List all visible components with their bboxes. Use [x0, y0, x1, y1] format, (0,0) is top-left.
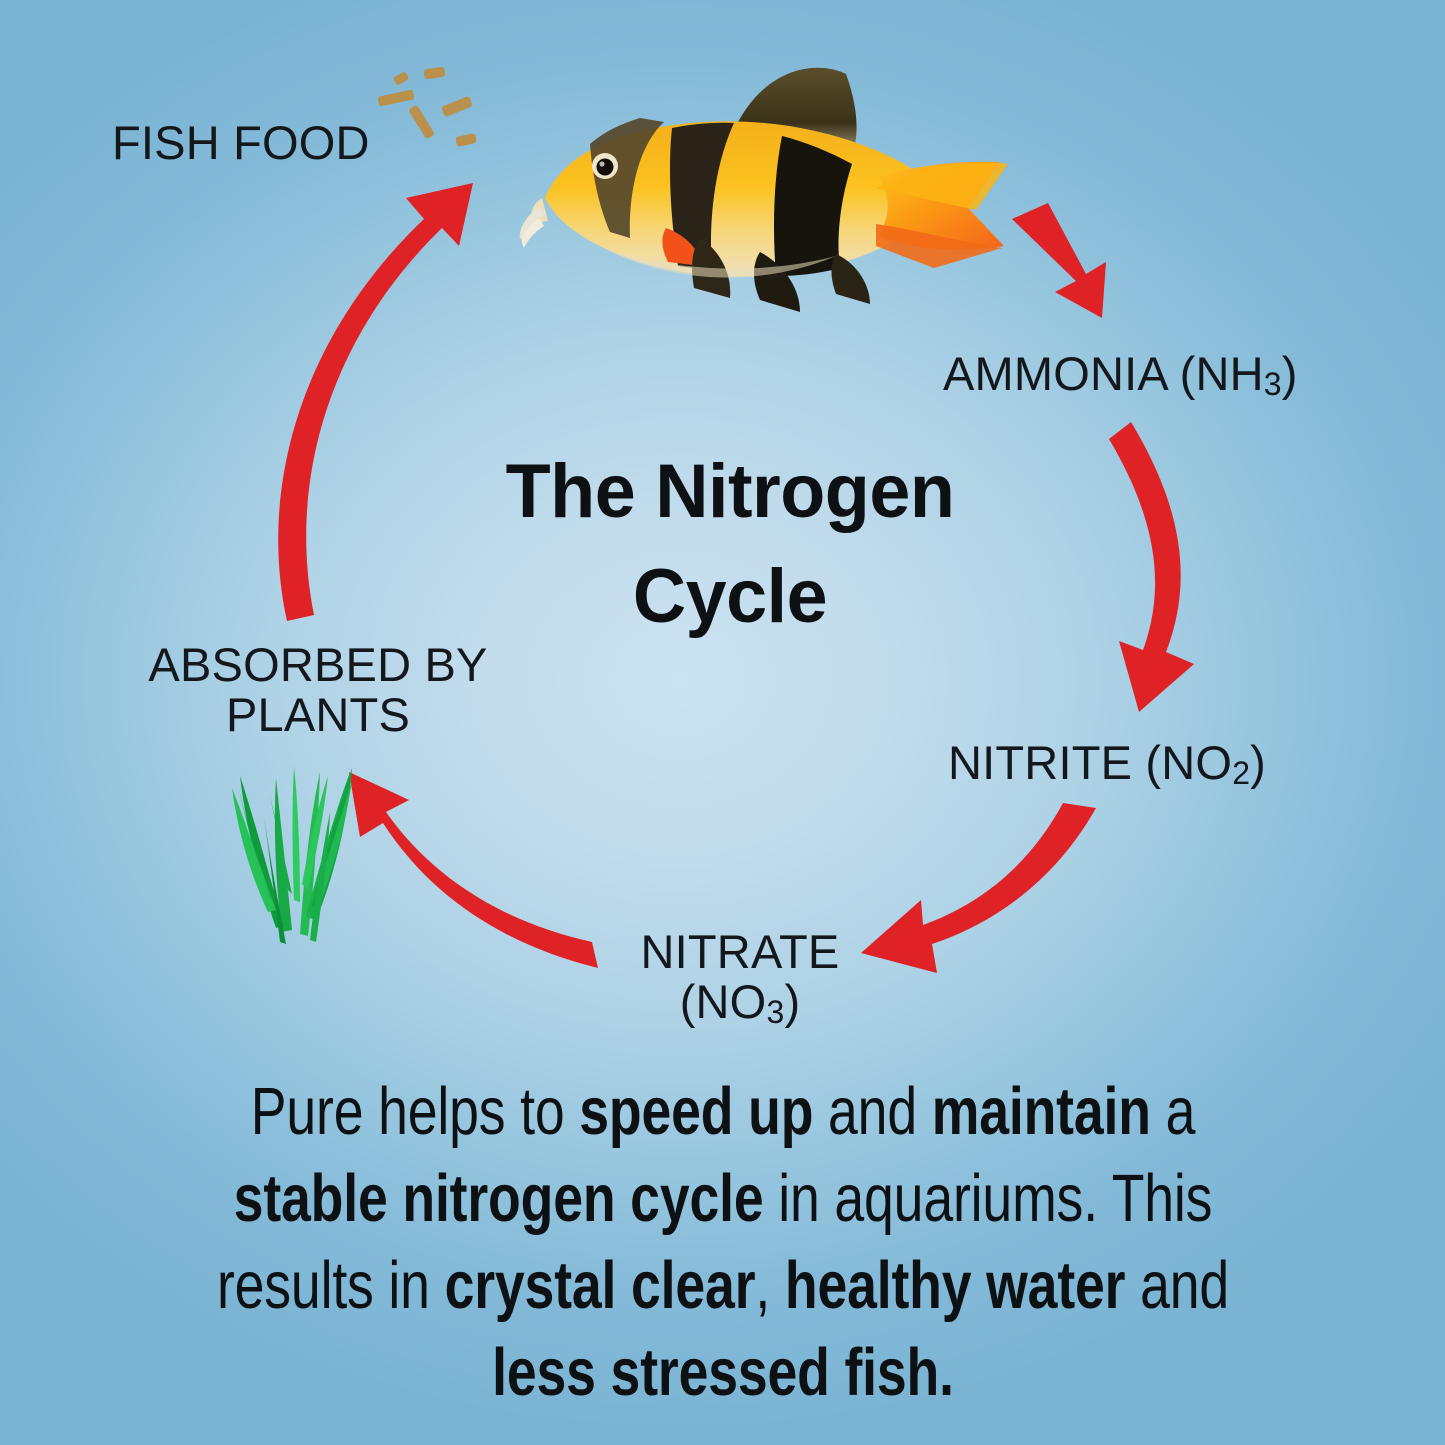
title-line2: Cycle: [429, 545, 1030, 650]
title-line1: The Nitrogen: [506, 449, 955, 534]
label-ammonia-text: AMMONIA (NH: [943, 347, 1264, 400]
label-ammonia-subscript: 3: [1264, 366, 1282, 402]
label-ammonia-tail: ): [1282, 347, 1298, 400]
caption-seg: results in: [217, 1248, 445, 1323]
arrow-nitrite-to-nitrate: [861, 803, 1096, 973]
label-nitrate: NITRATE(NO3): [610, 927, 870, 1027]
label-nitrate-line2: (NO3): [610, 977, 870, 1027]
label-nitrite-text: NITRITE (NO: [948, 736, 1232, 789]
caption-seg: Pure helps to: [251, 1074, 580, 1149]
label-fish-food: FISH FOOD: [112, 118, 370, 168]
caption-seg: ,: [755, 1248, 784, 1323]
label-plants-line2: PLANTS: [133, 690, 503, 740]
arrow-ammonia-to-nitrite: [1109, 422, 1194, 712]
infographic-canvas: FISH FOOD AMMONIA (NH3) NITRITE (NO2) NI…: [0, 0, 1445, 1445]
label-nitrate-line1: NITRATE: [641, 925, 840, 978]
caption-seg-bold: speed up: [579, 1074, 813, 1149]
caption-seg-bold: healthy water: [785, 1248, 1125, 1323]
label-nitrite: NITRITE (NO2): [948, 738, 1266, 788]
label-nitrate-tail: ): [784, 975, 800, 1028]
label-nitrite-tail: ): [1250, 736, 1266, 789]
label-absorbed-by-plants: ABSORBED BYPLANTS: [133, 640, 503, 740]
page-title: The NitrogenCycle: [429, 440, 1030, 650]
plant-illustration: [232, 766, 352, 944]
arrow-fish-to-ammonia: [1012, 203, 1106, 318]
arrow-nitrate-to-plants: [349, 772, 598, 968]
caption-paragraph: Pure helps to speed up and maintain a st…: [191, 1068, 1255, 1416]
label-nitrate-subscript: 3: [766, 994, 784, 1030]
caption-seg: a: [1151, 1074, 1195, 1149]
caption-seg: in aquariums. This: [764, 1161, 1213, 1236]
caption-seg: and: [813, 1074, 931, 1149]
label-ammonia: AMMONIA (NH3): [943, 349, 1298, 399]
caption-seg-bold: maintain: [932, 1074, 1151, 1149]
fish-illustration: [520, 68, 1008, 312]
caption-seg: and: [1125, 1248, 1229, 1323]
label-nitrite-subscript: 2: [1232, 755, 1250, 791]
label-nitrate-formula: (NO: [680, 975, 767, 1028]
caption-seg-bold: less stressed fish.: [492, 1335, 954, 1410]
caption-seg-bold: crystal clear: [445, 1248, 756, 1323]
caption-seg-bold: stable nitrogen cycle: [234, 1161, 764, 1236]
